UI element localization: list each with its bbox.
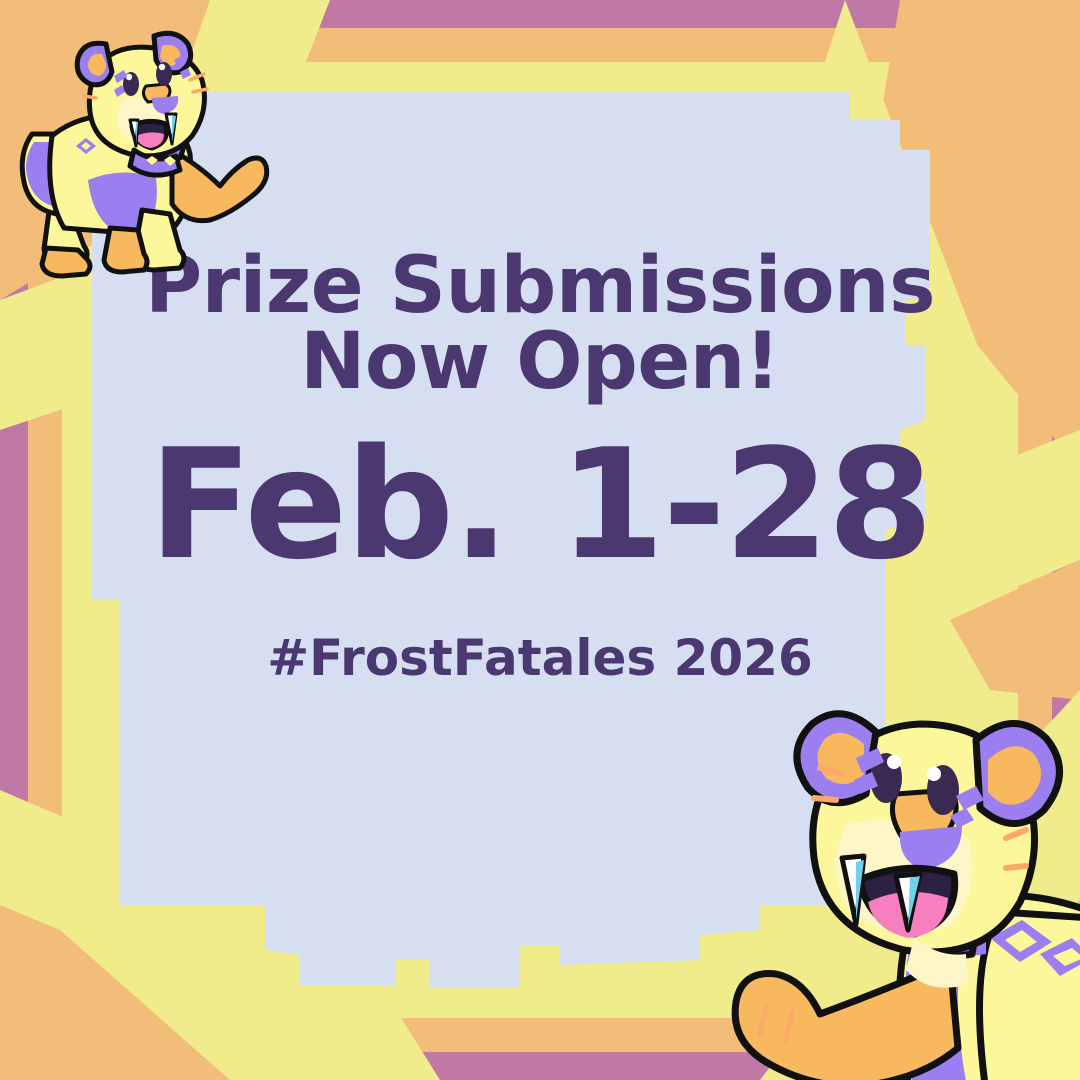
tiger2-eye-left-glint bbox=[887, 755, 901, 769]
tiger2-eye-right-glint bbox=[927, 767, 941, 781]
mascot-saber-tooth-tiger-bottom-right bbox=[700, 662, 1080, 1080]
mascot-saber-tooth-tiger-top-left bbox=[14, 14, 286, 286]
tiger-hind-paw bbox=[42, 248, 90, 276]
inner-panel-notch-left bbox=[92, 240, 120, 600]
tiger-eye-right-glint bbox=[159, 64, 165, 70]
tiger-front-leg-2 bbox=[104, 228, 147, 272]
tiger-waving-arm bbox=[172, 150, 267, 221]
poster-canvas: Prize Submissions Now Open! Feb. 1-28 #F… bbox=[0, 0, 1080, 1080]
inner-panel-notch-bottom bbox=[120, 840, 265, 905]
